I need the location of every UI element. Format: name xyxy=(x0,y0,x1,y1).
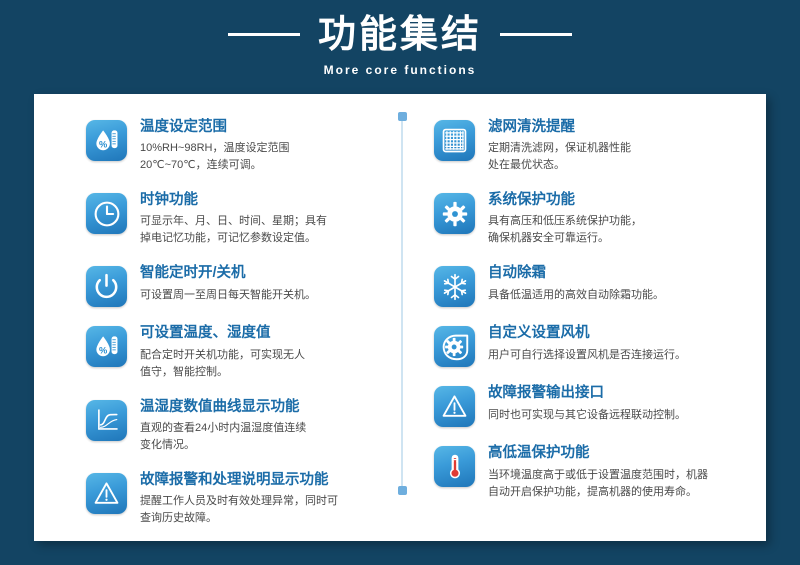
feature-description: 同时也可实现与其它设备远程联动控制。 xyxy=(488,407,686,424)
feature-title: 滤网清洗提醒 xyxy=(488,118,631,136)
power-icon xyxy=(86,266,127,307)
snowflake-icon xyxy=(434,266,475,307)
title-rule-left xyxy=(228,33,300,36)
feature-title: 自定义设置风机 xyxy=(488,324,686,342)
feature-description: 具有高压和低压系统保护功能， 确保机器安全可靠运行。 xyxy=(488,213,642,247)
feature-description: 用户可自行选择设置风机是否连接运行。 xyxy=(488,347,686,364)
feature-item: % 温度设定范围10%RH~98RH，温度设定范围 20℃~70℃，连续可调。 xyxy=(86,118,390,174)
feature-title: 温度设定范围 xyxy=(140,118,289,136)
feature-title: 高低温保护功能 xyxy=(488,444,708,462)
feature-item: 故障报警和处理说明显示功能提醒工作人员及时有效处理异常，同时可 查询历史故障。 xyxy=(86,471,390,527)
features-panel: % 温度设定范围10%RH~98RH，温度设定范围 20℃~70℃，连续可调。 … xyxy=(34,94,766,541)
feature-title: 温湿度数值曲线显示功能 xyxy=(140,398,306,416)
feature-description: 提醒工作人员及时有效处理异常，同时可 查询历史故障。 xyxy=(140,493,338,527)
feature-text: 系统保护功能具有高压和低压系统保护功能， 确保机器安全可靠运行。 xyxy=(488,191,642,247)
feature-title: 故障报警输出接口 xyxy=(488,384,686,402)
warning-triangle-icon xyxy=(86,473,127,514)
feature-title: 智能定时开/关机 xyxy=(140,264,316,282)
warning-triangle-icon xyxy=(434,386,475,427)
feature-title: 自动除霜 xyxy=(488,264,664,282)
feature-item: 系统保护功能具有高压和低压系统保护功能， 确保机器安全可靠运行。 xyxy=(434,191,752,247)
feature-text: 故障报警和处理说明显示功能提醒工作人员及时有效处理异常，同时可 查询历史故障。 xyxy=(140,471,338,527)
feature-description: 直观的查看24小时内温湿度值连续 变化情况。 xyxy=(140,420,306,454)
feature-title: 故障报警和处理说明显示功能 xyxy=(140,471,338,489)
page-header: 功能集结 More core functions xyxy=(0,0,800,92)
feature-text: 温度设定范围10%RH~98RH，温度设定范围 20℃~70℃，连续可调。 xyxy=(140,118,289,174)
feature-description: 10%RH~98RH，温度设定范围 20℃~70℃，连续可调。 xyxy=(140,140,289,174)
features-column-left: % 温度设定范围10%RH~98RH，温度设定范围 20℃~70℃，连续可调。 … xyxy=(34,94,400,541)
thermometer-icon xyxy=(434,446,475,487)
clock-icon xyxy=(86,193,127,234)
features-column-right: 滤网清洗提醒定期清洗滤网，保证机器性能 处在最优状态。 系统保护功能具有高压和低… xyxy=(400,94,766,541)
feature-item: 故障报警输出接口同时也可实现与其它设备远程联动控制。 xyxy=(434,384,752,427)
divider-dot-bottom xyxy=(398,486,407,495)
feature-item: % 可设置温度、湿度值配合定时开关机功能，可实现无人 值守，智能控制。 xyxy=(86,324,390,380)
column-divider xyxy=(401,116,403,491)
feature-item: 温湿度数值曲线显示功能直观的查看24小时内温湿度值连续 变化情况。 xyxy=(86,398,390,454)
feature-text: 自定义设置风机用户可自行选择设置风机是否连接运行。 xyxy=(488,324,686,363)
filter-mesh-icon xyxy=(434,120,475,161)
feature-title: 可设置温度、湿度值 xyxy=(140,324,305,342)
feature-text: 智能定时开/关机可设置周一至周日每天智能开关机。 xyxy=(140,264,316,303)
humidity-thermometer-icon: % xyxy=(86,120,127,161)
humidity-thermometer-icon: % xyxy=(86,326,127,367)
feature-text: 可设置温度、湿度值配合定时开关机功能，可实现无人 值守，智能控制。 xyxy=(140,324,305,380)
blower-fan-icon xyxy=(434,326,475,367)
feature-text: 故障报警输出接口同时也可实现与其它设备远程联动控制。 xyxy=(488,384,686,423)
curve-chart-icon xyxy=(86,400,127,441)
feature-description: 配合定时开关机功能，可实现无人 值守，智能控制。 xyxy=(140,347,305,381)
feature-title: 系统保护功能 xyxy=(488,191,642,209)
svg-text:%: % xyxy=(99,139,107,149)
svg-text:%: % xyxy=(99,346,107,356)
gear-icon xyxy=(434,193,475,234)
title-row: 功能集结 xyxy=(228,16,572,54)
divider-dot-top xyxy=(398,112,407,121)
feature-description: 可显示年、月、日、时间、星期；具有 掉电记忆功能，可记忆参数设定值。 xyxy=(140,213,327,247)
features-columns: % 温度设定范围10%RH~98RH，温度设定范围 20℃~70℃，连续可调。 … xyxy=(34,94,766,541)
feature-description: 定期清洗滤网，保证机器性能 处在最优状态。 xyxy=(488,140,631,174)
feature-item: 时钟功能可显示年、月、日、时间、星期；具有 掉电记忆功能，可记忆参数设定值。 xyxy=(86,191,390,247)
feature-text: 时钟功能可显示年、月、日、时间、星期；具有 掉电记忆功能，可记忆参数设定值。 xyxy=(140,191,327,247)
page-title: 功能集结 xyxy=(318,16,482,54)
feature-item: 高低温保护功能当环境温度高于或低于设置温度范围时，机器 自动开启保护功能，提高机… xyxy=(434,444,752,500)
feature-item: 智能定时开/关机可设置周一至周日每天智能开关机。 xyxy=(86,264,390,307)
feature-item: 滤网清洗提醒定期清洗滤网，保证机器性能 处在最优状态。 xyxy=(434,118,752,174)
feature-item: 自定义设置风机用户可自行选择设置风机是否连接运行。 xyxy=(434,324,752,367)
feature-item: 自动除霜具备低温适用的高效自动除霜功能。 xyxy=(434,264,752,307)
feature-description: 可设置周一至周日每天智能开关机。 xyxy=(140,287,316,304)
page-subtitle: More core functions xyxy=(324,63,477,77)
feature-description: 当环境温度高于或低于设置温度范围时，机器 自动开启保护功能，提高机器的使用寿命。 xyxy=(488,467,708,501)
feature-text: 滤网清洗提醒定期清洗滤网，保证机器性能 处在最优状态。 xyxy=(488,118,631,174)
feature-description: 具备低温适用的高效自动除霜功能。 xyxy=(488,287,664,304)
feature-text: 自动除霜具备低温适用的高效自动除霜功能。 xyxy=(488,264,664,303)
feature-text: 高低温保护功能当环境温度高于或低于设置温度范围时，机器 自动开启保护功能，提高机… xyxy=(488,444,708,500)
feature-text: 温湿度数值曲线显示功能直观的查看24小时内温湿度值连续 变化情况。 xyxy=(140,398,306,454)
title-rule-right xyxy=(500,33,572,36)
feature-title: 时钟功能 xyxy=(140,191,327,209)
